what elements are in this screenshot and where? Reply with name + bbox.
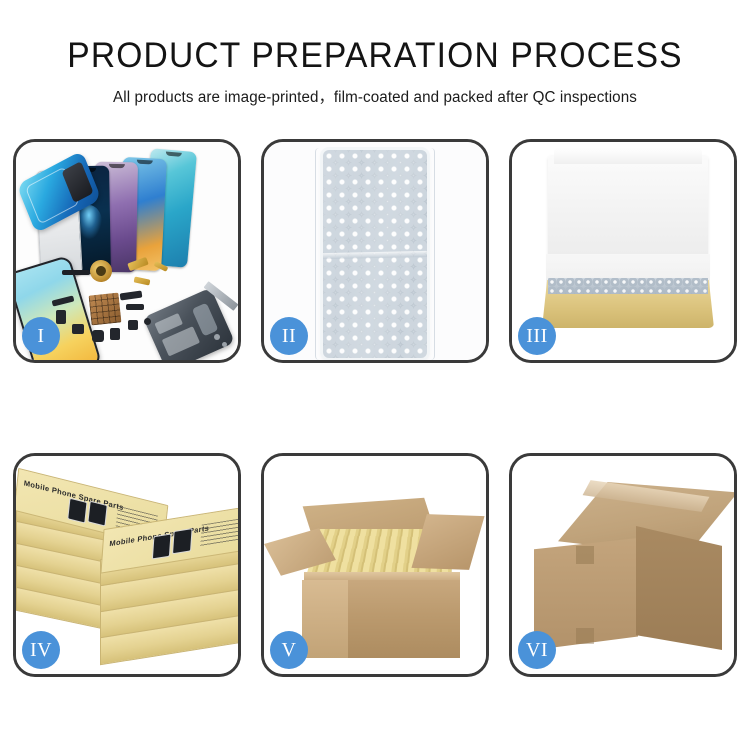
screw-part — [222, 342, 227, 347]
process-step-4[interactable]: Mobile Phone Spare Parts Mobile Phone Sp… — [13, 453, 241, 677]
box-label-spec-lines — [200, 518, 238, 547]
step-badge-6: VI — [518, 631, 556, 669]
vibrator-part — [110, 328, 120, 340]
box-label-phone-image — [172, 528, 193, 554]
screw-part — [144, 318, 151, 325]
process-step-grid: I II III — [13, 139, 737, 677]
page-title: PRODUCT PREPARATION PROCESS — [15, 0, 735, 76]
step-badge-1: I — [22, 317, 60, 355]
internal-component — [192, 303, 219, 337]
phone-notch-icon — [108, 164, 124, 168]
carton-body — [302, 580, 460, 658]
bubble-wrap-wrapped-item-image: II — [264, 142, 486, 360]
phone-screens-and-parts-image: I — [16, 142, 238, 360]
bracket-part — [72, 324, 84, 334]
step-badge-4: IV — [22, 631, 60, 669]
camera-module-part — [92, 330, 104, 342]
open-carton-with-boxes-image: V — [264, 456, 486, 674]
phone-notch-icon — [137, 160, 153, 165]
sealed-carton — [534, 482, 722, 654]
button-part — [128, 320, 138, 330]
carton-flap-tab — [576, 628, 594, 644]
carton-right-face — [636, 526, 722, 650]
stacked-spare-parts-boxes-image: Mobile Phone Spare Parts Mobile Phone Sp… — [16, 456, 238, 674]
process-step-2[interactable]: II — [261, 139, 489, 363]
bubble-wrap-sheet — [323, 150, 427, 358]
earpiece-mesh-part — [62, 270, 90, 275]
process-step-3[interactable]: III — [509, 139, 737, 363]
connector-part — [126, 304, 144, 310]
sealed-shipping-carton-image: VI — [512, 456, 734, 674]
step-badge-3: III — [518, 317, 556, 355]
process-step-6[interactable]: VI — [509, 453, 737, 677]
box-label-phone-image — [67, 498, 87, 524]
phone-notch-icon — [166, 152, 182, 157]
page-header: PRODUCT PREPARATION PROCESS All products… — [0, 0, 750, 107]
page-subtitle: All products are image-printed，film-coat… — [8, 76, 743, 107]
carton-flap-tab — [576, 546, 594, 564]
circuit-grid-part — [89, 293, 122, 326]
bubble-wrapped-contents — [548, 278, 708, 294]
screw-part — [214, 334, 220, 340]
step-badge-2: II — [270, 317, 308, 355]
process-step-1[interactable]: I — [13, 139, 241, 363]
bracket-part — [56, 310, 66, 324]
process-step-5[interactable]: V — [261, 453, 489, 677]
step-badge-5: V — [270, 631, 308, 669]
open-kraft-box-with-foam-image: III — [512, 142, 734, 360]
box-label-phone-image — [87, 501, 107, 527]
box-label-phone-image — [152, 533, 172, 559]
